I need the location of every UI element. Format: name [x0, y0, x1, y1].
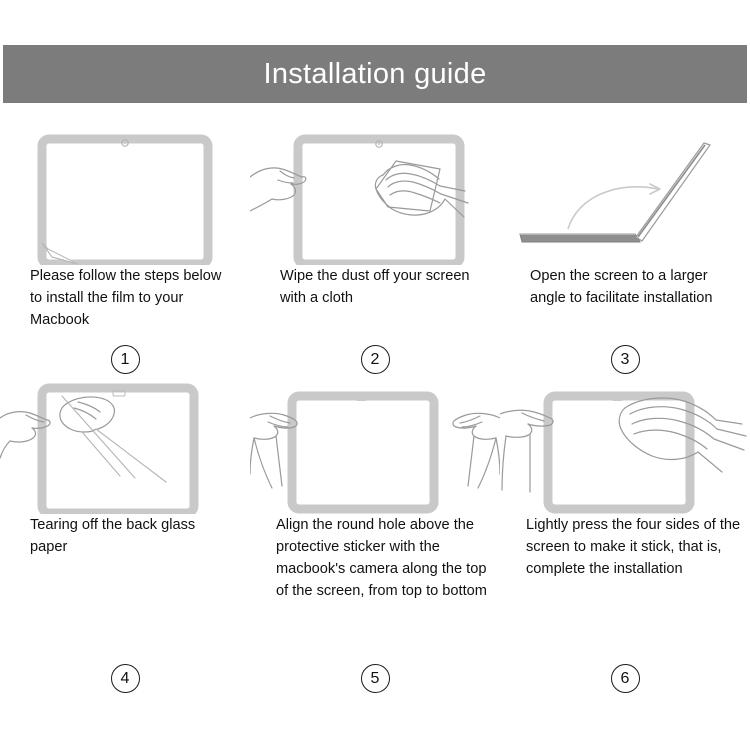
- illustration-tablet-with-peeling-film: [0, 125, 250, 265]
- step-caption-2: Wipe the dust off your screen with a clo…: [250, 265, 500, 335]
- illustration-hand-wiping-screen: [250, 125, 500, 265]
- steps-grid: Please follow the steps below to install…: [0, 125, 750, 693]
- step-number-badge-2: 2: [361, 345, 390, 374]
- step-number-badge-4: 4: [111, 664, 140, 693]
- step-caption-1: Please follow the steps below to install…: [0, 265, 250, 335]
- step-caption-3: Open the screen to a larger angle to fac…: [500, 265, 750, 335]
- step-card-2: Wipe the dust off your screen with a clo…: [250, 125, 500, 374]
- illustration-laptop-open-angle: [500, 125, 750, 265]
- illustration-aligning-film: [250, 374, 500, 514]
- page-title: Installation guide: [263, 60, 486, 89]
- step-card-1: Please follow the steps below to install…: [0, 125, 250, 374]
- step-badge-wrap-5: 5: [250, 664, 500, 693]
- step-card-3: Open the screen to a larger angle to fac…: [500, 125, 750, 374]
- illustration-tearing-back-paper: [0, 374, 250, 514]
- step-number-badge-5: 5: [361, 664, 390, 693]
- illustration-pressing-film: [500, 374, 750, 514]
- step-badge-wrap-6: 6: [500, 664, 750, 693]
- step-badge-wrap-1: 1: [0, 345, 250, 374]
- step-number-badge-1: 1: [111, 345, 140, 374]
- step-badge-wrap-2: 2: [250, 345, 500, 374]
- step-caption-5: Align the round hole above the protectiv…: [250, 514, 500, 628]
- step-number-badge-6: 6: [611, 664, 640, 693]
- step-card-5: Align the round hole above the protectiv…: [250, 374, 500, 693]
- step-card-4: Tearing off the back glass paper 4: [0, 374, 250, 693]
- step-caption-4: Tearing off the back glass paper: [0, 514, 250, 628]
- step-caption-6: Lightly press the four sides of the scre…: [500, 514, 750, 628]
- header-banner: Installation guide: [3, 45, 747, 103]
- step-badge-wrap-4: 4: [0, 664, 250, 693]
- step-card-6: Lightly press the four sides of the scre…: [500, 374, 750, 693]
- step-badge-wrap-3: 3: [500, 345, 750, 374]
- step-number-badge-3: 3: [611, 345, 640, 374]
